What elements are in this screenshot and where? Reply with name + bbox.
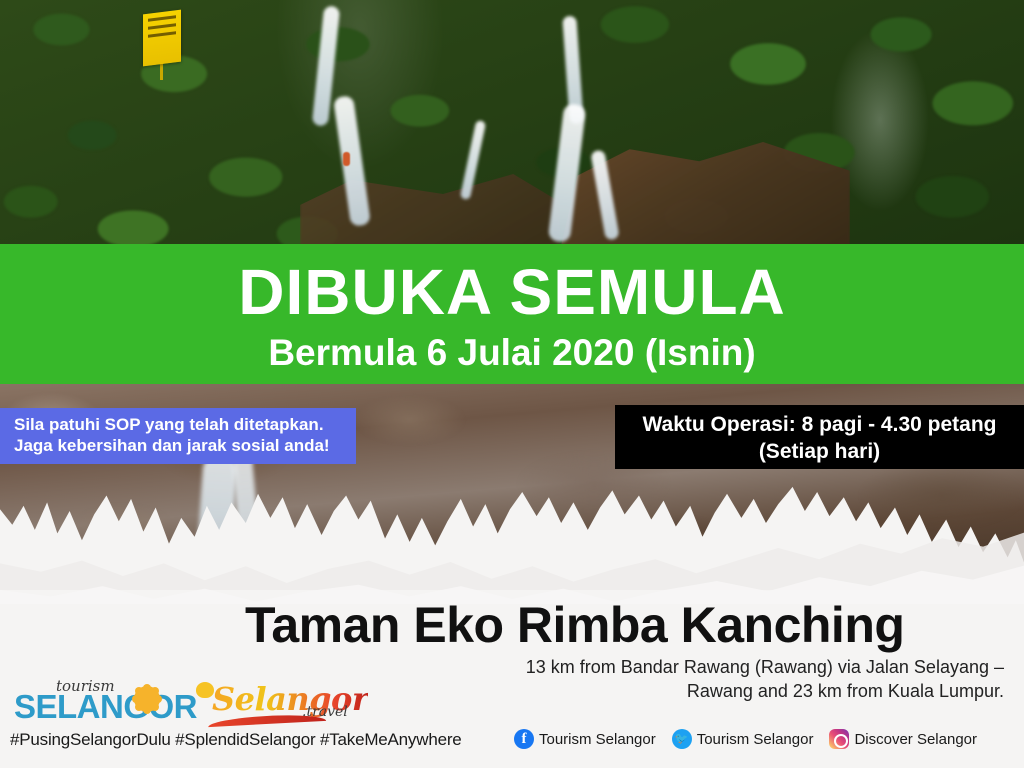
social-links: Tourism Selangor Tourism Selangor Discov…	[514, 729, 987, 749]
selangor-wordmark: SELANGOR	[14, 688, 197, 726]
place-description-line-1: 13 km from Bandar Rawang (Rawang) via Ja…	[384, 655, 1004, 679]
hashtags: #PusingSelangorDulu #SplendidSelangor #T…	[10, 730, 462, 750]
tourism-selangor-logo[interactable]: tourism SELANGOR	[14, 680, 184, 724]
signboard-post	[160, 62, 163, 80]
twitter-icon[interactable]	[672, 729, 692, 749]
place-description-line-2: Rawang and 23 km from Kuala Lumpur.	[384, 679, 1004, 703]
social-instagram[interactable]: Discover Selangor	[829, 729, 977, 749]
place-title: Taman Eko Rimba Kanching	[245, 600, 1005, 650]
sop-notice-box: Sila patuhi SOP yang telah ditetapkan. J…	[0, 408, 356, 464]
sop-line-2: Jaga kebersihan dan jarak sosial anda!	[14, 435, 346, 456]
operating-hours-line-2: (Setiap hari)	[615, 438, 1024, 465]
top-waterfall-photo	[0, 0, 1024, 246]
banner-headline: DIBUKA SEMULA	[0, 244, 1024, 324]
twitter-handle: Tourism Selangor	[697, 731, 814, 748]
social-twitter[interactable]: Tourism Selangor	[672, 729, 814, 749]
yellow-signboard-icon	[143, 10, 181, 67]
social-facebook[interactable]: Tourism Selangor	[514, 729, 656, 749]
operating-hours-box: Waktu Operasi: 8 pagi - 4.30 petang (Set…	[615, 405, 1024, 469]
instagram-handle: Discover Selangor	[854, 731, 977, 748]
person-figure	[343, 152, 350, 166]
place-description: 13 km from Bandar Rawang (Rawang) via Ja…	[384, 655, 1004, 704]
travel-suffix: .travel	[302, 704, 348, 720]
selangor-travel-logo[interactable]: Selangor .travel	[196, 678, 356, 724]
reopening-banner: DIBUKA SEMULA Bermula 6 Julai 2020 (Isni…	[0, 244, 1024, 384]
poster-canvas: DIBUKA SEMULA Bermula 6 Julai 2020 (Isni…	[0, 0, 1024, 768]
facebook-icon[interactable]	[514, 729, 534, 749]
sop-line-1: Sila patuhi SOP yang telah ditetapkan.	[14, 414, 346, 435]
facebook-handle: Tourism Selangor	[539, 731, 656, 748]
sun-icon	[134, 686, 160, 712]
instagram-icon[interactable]	[829, 729, 849, 749]
banner-subheadline: Bermula 6 Julai 2020 (Isnin)	[0, 324, 1024, 373]
operating-hours-line-1: Waktu Operasi: 8 pagi - 4.30 petang	[615, 411, 1024, 438]
